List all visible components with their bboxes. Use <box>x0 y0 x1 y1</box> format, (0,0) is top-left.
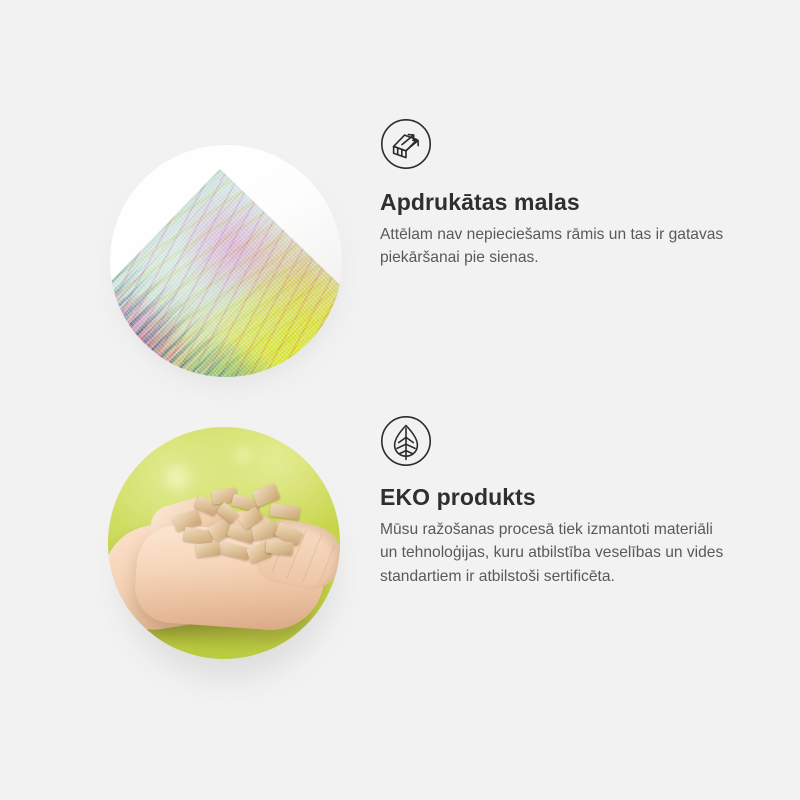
canvas-corner-artwork <box>110 169 342 377</box>
content-eco-product: EKO produkts Mūsu ražošanas procesā tiek… <box>352 415 800 589</box>
hands-holding-wood-chips-photo <box>108 427 340 659</box>
canvas-corner-photo <box>110 145 342 377</box>
content-printed-edges: Apdrukātas malas Attēlam nav nepieciešam… <box>352 118 800 270</box>
canvas-weave-texture <box>110 169 342 377</box>
feature-title-eco-product: EKO produkts <box>380 483 800 512</box>
printed-canvas-edge-icon <box>380 118 432 170</box>
canvas-print-face <box>110 169 342 377</box>
leaf-icon <box>380 415 432 467</box>
feature-row-eco-product: EKO produkts Mūsu ražošanas procesā tiek… <box>0 415 800 705</box>
feature-row-printed-edges: Apdrukātas malas Attēlam nav nepieciešam… <box>0 118 800 398</box>
feature-description-printed-edges: Attēlam nav nepieciešams rāmis un tas ir… <box>380 223 732 270</box>
feature-title-printed-edges: Apdrukātas malas <box>380 188 800 217</box>
media-printed-edges <box>92 118 352 388</box>
media-eco-product <box>92 415 352 685</box>
wood-chips-pile <box>166 483 316 569</box>
feature-description-eco-product: Mūsu ražošanas procesā tiek izmantoti ma… <box>380 518 732 589</box>
